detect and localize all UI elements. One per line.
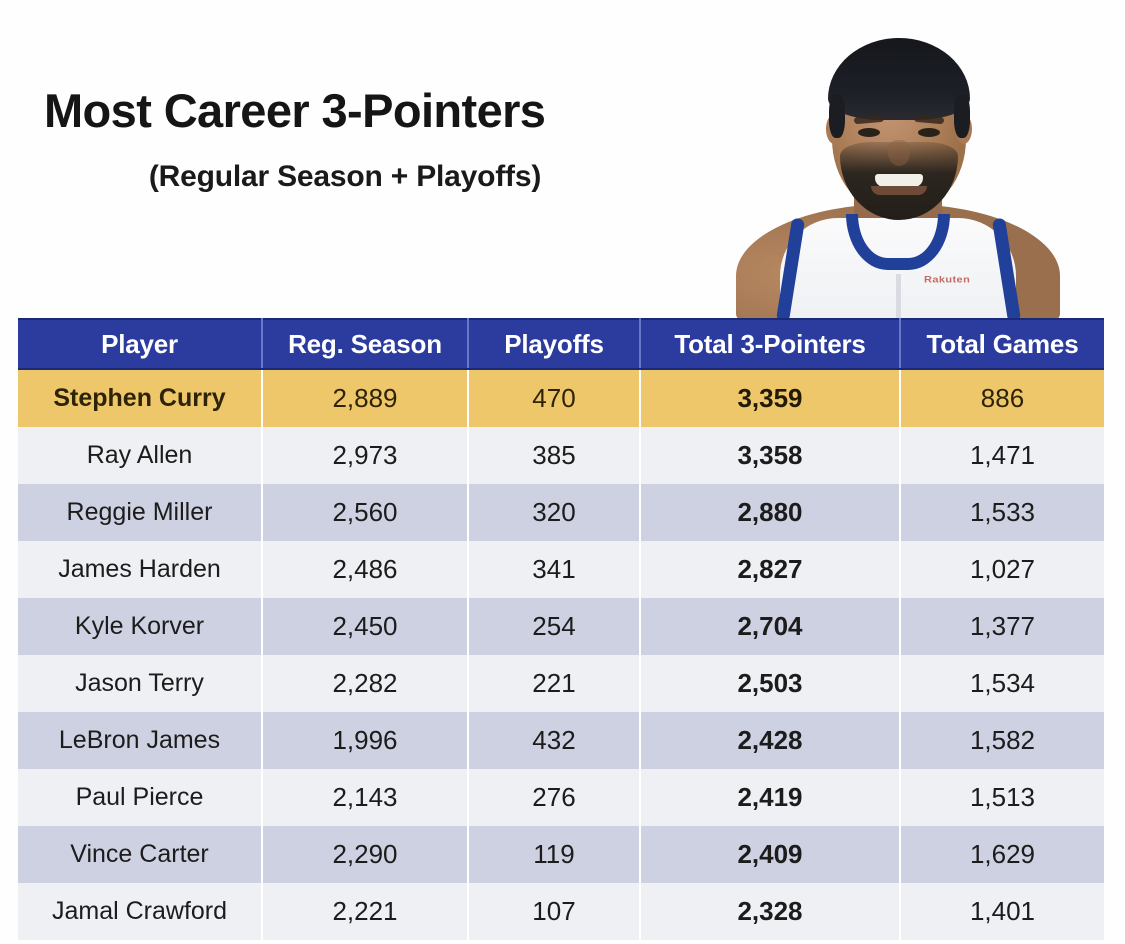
cell-reg-season: 2,290 <box>262 826 468 883</box>
jersey-sponsor-label: Rakuten <box>924 275 970 285</box>
infographic-root: Most Career 3-Pointers (Regular Season +… <box>0 0 1125 944</box>
cell-playoffs: 221 <box>468 655 640 712</box>
cell-total-games: 1,513 <box>900 769 1104 826</box>
cell-playoffs: 107 <box>468 883 640 940</box>
cell-playoffs: 320 <box>468 484 640 541</box>
photo-stage: Rakuten <box>728 22 1068 318</box>
cell-player: Paul Pierce <box>18 769 262 826</box>
cell-total-games: 1,629 <box>900 826 1104 883</box>
column-header-reg-season[interactable]: Reg. Season <box>262 319 468 369</box>
hair-side-right <box>954 94 970 138</box>
cell-player: Vince Carter <box>18 826 262 883</box>
cell-total-games: 1,582 <box>900 712 1104 769</box>
column-header-total-3pt[interactable]: Total 3-Pointers <box>640 319 900 369</box>
page-subtitle: (Regular Season + Playoffs) <box>0 136 690 194</box>
cell-total-3pt: 2,428 <box>640 712 900 769</box>
cell-playoffs: 432 <box>468 712 640 769</box>
cell-total-3pt: 3,359 <box>640 369 900 427</box>
cell-player: Jamal Crawford <box>18 883 262 940</box>
cell-total-games: 1,377 <box>900 598 1104 655</box>
cell-player: Stephen Curry <box>18 369 262 427</box>
cell-reg-season: 2,560 <box>262 484 468 541</box>
cell-playoffs: 254 <box>468 598 640 655</box>
table-row[interactable]: Jamal Crawford2,2211072,3281,401 <box>18 883 1104 940</box>
table-header: Player Reg. Season Playoffs Total 3-Poin… <box>18 319 1104 369</box>
cell-total-3pt: 2,704 <box>640 598 900 655</box>
cell-playoffs: 276 <box>468 769 640 826</box>
cell-player: Ray Allen <box>18 427 262 484</box>
hair-shape <box>828 38 970 120</box>
table-row[interactable]: James Harden2,4863412,8271,027 <box>18 541 1104 598</box>
cell-reg-season: 2,221 <box>262 883 468 940</box>
cell-reg-season: 1,996 <box>262 712 468 769</box>
jersey-placket <box>896 274 901 318</box>
cell-total-games: 1,533 <box>900 484 1104 541</box>
cell-reg-season: 2,450 <box>262 598 468 655</box>
table-row[interactable]: LeBron James1,9964322,4281,582 <box>18 712 1104 769</box>
table-row[interactable]: Vince Carter2,2901192,4091,629 <box>18 826 1104 883</box>
page-title: Most Career 3-Pointers <box>0 86 690 136</box>
hair-side-left <box>829 94 845 138</box>
cell-total-3pt: 3,358 <box>640 427 900 484</box>
table-header-row: Player Reg. Season Playoffs Total 3-Poin… <box>18 319 1104 369</box>
cell-playoffs: 385 <box>468 427 640 484</box>
cell-total-3pt: 2,880 <box>640 484 900 541</box>
cell-total-3pt: 2,328 <box>640 883 900 940</box>
cell-reg-season: 2,486 <box>262 541 468 598</box>
stephen-curry-headshot: Rakuten <box>728 22 1068 318</box>
cell-total-3pt: 2,419 <box>640 769 900 826</box>
table-row[interactable]: Kyle Korver2,4502542,7041,377 <box>18 598 1104 655</box>
table-row[interactable]: Ray Allen2,9733853,3581,471 <box>18 427 1104 484</box>
cell-playoffs: 341 <box>468 541 640 598</box>
cell-reg-season: 2,143 <box>262 769 468 826</box>
cell-total-3pt: 2,827 <box>640 541 900 598</box>
lower-lip-shape <box>871 186 927 195</box>
eye-left <box>858 128 880 137</box>
cell-reg-season: 2,889 <box>262 369 468 427</box>
cell-playoffs: 470 <box>468 369 640 427</box>
table-row[interactable]: Stephen Curry2,8894703,359886 <box>18 369 1104 427</box>
cell-player: LeBron James <box>18 712 262 769</box>
cell-reg-season: 2,973 <box>262 427 468 484</box>
cell-total-games: 1,534 <box>900 655 1104 712</box>
table-row[interactable]: Paul Pierce2,1432762,4191,513 <box>18 769 1104 826</box>
cell-total-3pt: 2,503 <box>640 655 900 712</box>
column-header-total-games[interactable]: Total Games <box>900 319 1104 369</box>
eye-right <box>918 128 940 137</box>
cell-total-games: 1,471 <box>900 427 1104 484</box>
table-row[interactable]: Reggie Miller2,5603202,8801,533 <box>18 484 1104 541</box>
cell-playoffs: 119 <box>468 826 640 883</box>
table-row[interactable]: Jason Terry2,2822212,5031,534 <box>18 655 1104 712</box>
cell-total-3pt: 2,409 <box>640 826 900 883</box>
cell-total-games: 1,027 <box>900 541 1104 598</box>
career-three-pointers-table: Player Reg. Season Playoffs Total 3-Poin… <box>18 318 1104 940</box>
column-header-playoffs[interactable]: Playoffs <box>468 319 640 369</box>
cell-total-games: 1,401 <box>900 883 1104 940</box>
cell-reg-season: 2,282 <box>262 655 468 712</box>
cell-player: Jason Terry <box>18 655 262 712</box>
column-header-player[interactable]: Player <box>18 319 262 369</box>
table-body: Stephen Curry2,8894703,359886Ray Allen2,… <box>18 369 1104 940</box>
cell-player: Reggie Miller <box>18 484 262 541</box>
cell-player: Kyle Korver <box>18 598 262 655</box>
heading-block: Most Career 3-Pointers (Regular Season +… <box>0 86 690 194</box>
cell-total-games: 886 <box>900 369 1104 427</box>
cell-player: James Harden <box>18 541 262 598</box>
nose-shape <box>888 140 910 166</box>
